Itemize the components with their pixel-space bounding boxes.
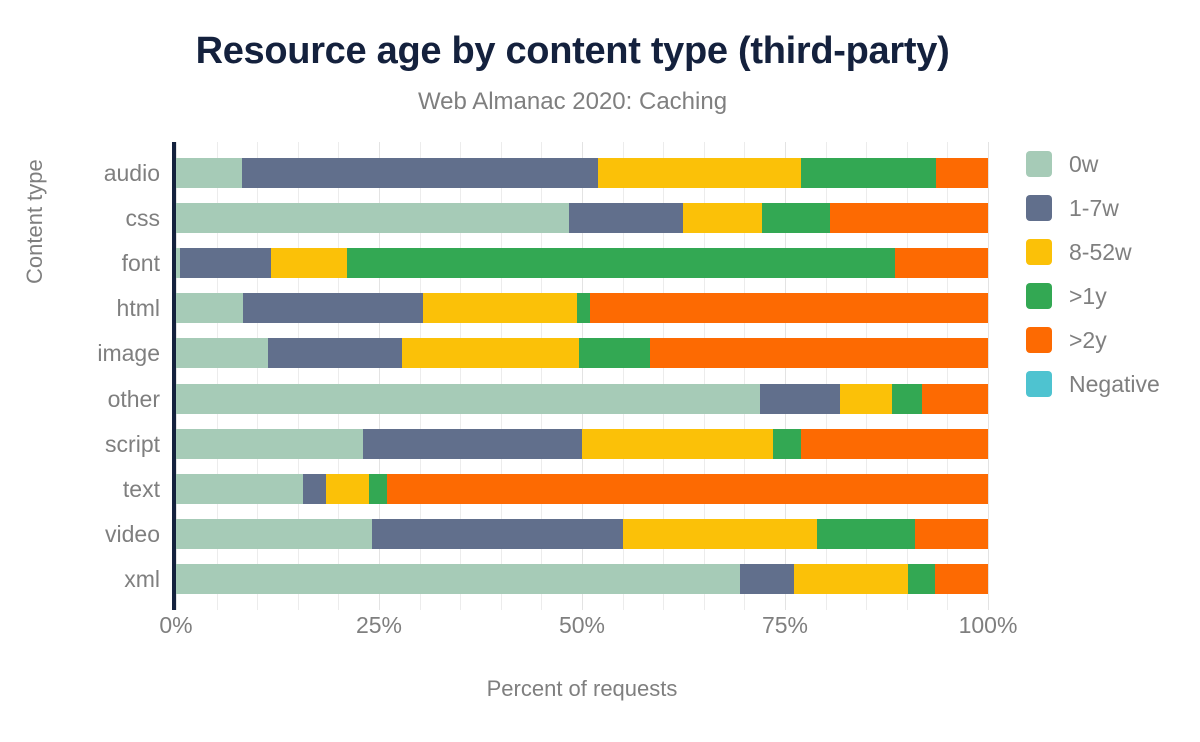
bar-row[interactable] [176, 384, 988, 414]
bar-segment[interactable] [740, 564, 794, 594]
legend-swatch-icon [1026, 151, 1052, 177]
bar-segment[interactable] [935, 564, 988, 594]
x-axis-title: Percent of requests [176, 676, 988, 702]
legend-swatch-icon [1026, 327, 1052, 353]
bar-segment[interactable] [908, 564, 936, 594]
bar-row[interactable] [176, 293, 988, 323]
legend-item[interactable]: 0w [1026, 142, 1160, 186]
chart-container: Resource age by content type (third-part… [0, 0, 1200, 742]
legend-swatch-icon [1026, 195, 1052, 221]
y-axis-tick-label: script [0, 429, 160, 459]
bar-segment[interactable] [936, 158, 988, 188]
x-axis-tick-label: 100% [959, 612, 1018, 639]
bar-segment[interactable] [895, 248, 988, 278]
bar-segment[interactable] [582, 429, 773, 459]
bar-row[interactable] [176, 248, 988, 278]
y-axis-tick-label: image [0, 338, 160, 368]
bar-segment[interactable] [271, 248, 347, 278]
y-axis-tick-label: font [0, 248, 160, 278]
legend-label: 0w [1069, 151, 1098, 178]
bar-segment[interactable] [598, 158, 801, 188]
bar-row[interactable] [176, 158, 988, 188]
chart-title: Resource age by content type (third-part… [0, 30, 1145, 73]
bar-rows [176, 150, 988, 602]
bar-row[interactable] [176, 564, 988, 594]
bar-segment[interactable] [623, 519, 817, 549]
bar-segment[interactable] [303, 474, 327, 504]
bar-segment[interactable] [773, 429, 801, 459]
bar-segment[interactable] [176, 338, 268, 368]
bar-row[interactable] [176, 338, 988, 368]
bar-segment[interactable] [801, 429, 988, 459]
bar-segment[interactable] [363, 429, 582, 459]
bar-segment[interactable] [176, 203, 569, 233]
bar-segment[interactable] [176, 519, 372, 549]
bar-segment[interactable] [176, 293, 243, 323]
legend[interactable]: 0w1-7w8-52w>1y>2yNegative [1026, 142, 1160, 406]
legend-swatch-icon [1026, 239, 1052, 265]
bar-segment[interactable] [922, 384, 988, 414]
bar-segment[interactable] [423, 293, 577, 323]
legend-item[interactable]: 8-52w [1026, 230, 1160, 274]
bar-segment[interactable] [243, 293, 423, 323]
bar-segment[interactable] [369, 474, 387, 504]
bar-segment[interactable] [817, 519, 914, 549]
plot-area [176, 150, 988, 602]
x-axis-tick-label: 25% [356, 612, 402, 639]
bar-row[interactable] [176, 203, 988, 233]
legend-label: Negative [1069, 371, 1160, 398]
legend-item[interactable]: Negative [1026, 362, 1160, 406]
legend-label: >1y [1069, 283, 1107, 310]
gridline [988, 142, 989, 610]
bar-row[interactable] [176, 519, 988, 549]
legend-swatch-icon [1026, 371, 1052, 397]
bar-segment[interactable] [387, 474, 988, 504]
y-axis-tick-label: other [0, 384, 160, 414]
legend-label: 8-52w [1069, 239, 1132, 266]
bar-segment[interactable] [762, 203, 829, 233]
bar-segment[interactable] [176, 158, 242, 188]
y-axis-tick-label: audio [0, 158, 160, 188]
y-axis-tick-label: css [0, 203, 160, 233]
y-axis-tick-label: text [0, 474, 160, 504]
legend-swatch-icon [1026, 283, 1052, 309]
bar-segment[interactable] [840, 384, 892, 414]
bar-segment[interactable] [402, 338, 579, 368]
x-axis-tick-label: 75% [762, 612, 808, 639]
legend-label: >2y [1069, 327, 1107, 354]
bar-segment[interactable] [915, 519, 988, 549]
bar-segment[interactable] [760, 384, 840, 414]
bar-segment[interactable] [590, 293, 988, 323]
bar-segment[interactable] [801, 158, 936, 188]
bar-segment[interactable] [372, 519, 624, 549]
chart-subtitle: Web Almanac 2020: Caching [0, 88, 1145, 116]
bar-segment[interactable] [176, 429, 363, 459]
bar-row[interactable] [176, 429, 988, 459]
x-axis-tick-label: 50% [559, 612, 605, 639]
legend-item[interactable]: >2y [1026, 318, 1160, 362]
legend-item[interactable]: >1y [1026, 274, 1160, 318]
y-axis-tick-label: xml [0, 564, 160, 594]
bar-row[interactable] [176, 474, 988, 504]
x-axis-tick-label: 0% [159, 612, 192, 639]
bar-segment[interactable] [176, 564, 740, 594]
bar-segment[interactable] [180, 248, 271, 278]
bar-segment[interactable] [326, 474, 369, 504]
bar-segment[interactable] [176, 384, 760, 414]
bar-segment[interactable] [650, 338, 988, 368]
legend-item[interactable]: 1-7w [1026, 186, 1160, 230]
bar-segment[interactable] [579, 338, 650, 368]
bar-segment[interactable] [794, 564, 908, 594]
bar-segment[interactable] [347, 248, 894, 278]
bar-segment[interactable] [577, 293, 590, 323]
bar-segment[interactable] [268, 338, 402, 368]
legend-label: 1-7w [1069, 195, 1119, 222]
y-axis-tick-label: html [0, 293, 160, 323]
bar-segment[interactable] [892, 384, 922, 414]
y-axis-tick-label: video [0, 519, 160, 549]
bar-segment[interactable] [176, 474, 303, 504]
bar-segment[interactable] [569, 203, 683, 233]
bar-segment[interactable] [830, 203, 988, 233]
bar-segment[interactable] [242, 158, 598, 188]
bar-segment[interactable] [683, 203, 763, 233]
